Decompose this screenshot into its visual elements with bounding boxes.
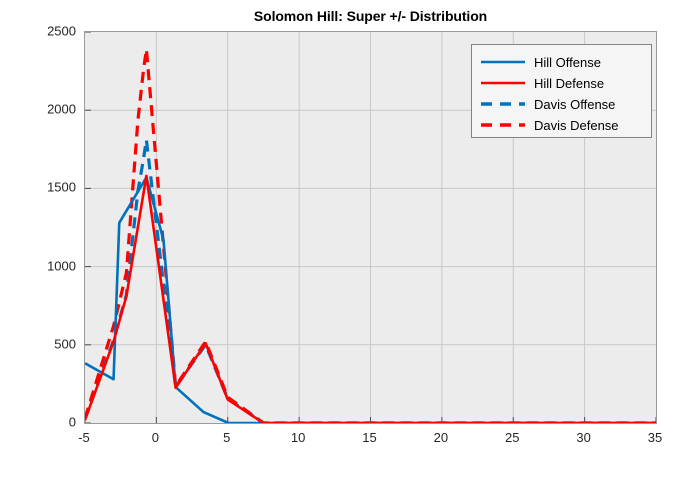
figure-canvas: Solomon Hill: Super +/- Distribution 050… bbox=[0, 0, 700, 477]
x-axis-tick-label: 5 bbox=[207, 430, 247, 445]
y-axis-tick-label: 2000 bbox=[28, 102, 76, 117]
legend-item[interactable]: Davis Offense bbox=[480, 94, 615, 114]
legend-item-label: Hill Defense bbox=[534, 77, 604, 90]
legend-swatch-solid-line-icon bbox=[480, 76, 526, 90]
legend-item-label: Davis Defense bbox=[534, 119, 619, 132]
y-axis-tick-label: 500 bbox=[28, 336, 76, 351]
x-axis-tick-label: 20 bbox=[421, 430, 461, 445]
x-axis-tick-label: 0 bbox=[135, 430, 175, 445]
legend-swatch-dashed-line-icon bbox=[480, 118, 526, 132]
x-axis-tick-label: -5 bbox=[64, 430, 104, 445]
legend-item[interactable]: Davis Defense bbox=[480, 115, 619, 135]
x-axis-tick-label: 25 bbox=[492, 430, 532, 445]
legend-swatch-solid-line-icon bbox=[480, 55, 526, 69]
y-axis-tick-label: 2500 bbox=[28, 24, 76, 39]
legend-item[interactable]: Hill Defense bbox=[480, 73, 604, 93]
legend-swatch-dashed-line-icon bbox=[480, 97, 526, 111]
x-axis-tick-label: 35 bbox=[635, 430, 675, 445]
chart-legend: Hill OffenseHill DefenseDavis OffenseDav… bbox=[471, 44, 652, 138]
legend-item[interactable]: Hill Offense bbox=[480, 52, 601, 72]
page-title: Solomon Hill: Super +/- Distribution bbox=[84, 8, 657, 24]
legend-item-label: Davis Offense bbox=[534, 98, 615, 111]
y-axis-tick-label: 0 bbox=[28, 415, 76, 430]
x-axis-tick-label: 10 bbox=[278, 430, 318, 445]
x-axis-tick-label: 30 bbox=[564, 430, 604, 445]
y-axis-tick-label: 1000 bbox=[28, 258, 76, 273]
legend-item-label: Hill Offense bbox=[534, 56, 601, 69]
x-axis-tick-label: 15 bbox=[350, 430, 390, 445]
y-axis-tick-label: 1500 bbox=[28, 180, 76, 195]
